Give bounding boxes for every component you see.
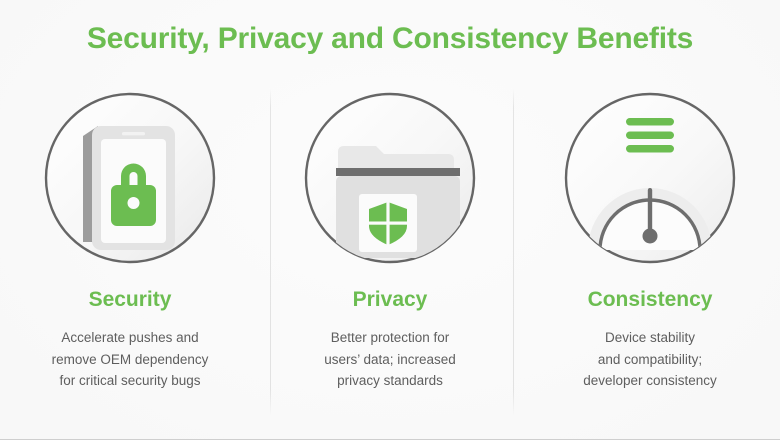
folder-shield-icon bbox=[302, 90, 478, 266]
slide-root: Security, Privacy and Consistency Benefi… bbox=[0, 0, 780, 440]
benefit-title-security: Security bbox=[89, 288, 172, 311]
benefit-column-privacy: Privacy Better protection for users’ dat… bbox=[260, 88, 520, 418]
benefit-description-security: Accelerate pushes and remove OEM depende… bbox=[52, 327, 209, 392]
benefit-title-consistency: Consistency bbox=[588, 288, 713, 311]
benefit-title-privacy: Privacy bbox=[353, 288, 428, 311]
benefit-column-security: Security Accelerate pushes and remove OE… bbox=[0, 88, 260, 418]
benefit-column-consistency: Consistency Device stability and compati… bbox=[520, 88, 780, 418]
phone-lock-icon bbox=[42, 90, 218, 266]
benefit-columns: Security Accelerate pushes and remove OE… bbox=[0, 88, 780, 418]
page-title: Security, Privacy and Consistency Benefi… bbox=[0, 22, 780, 56]
benefit-description-consistency: Device stability and compatibility; deve… bbox=[583, 327, 717, 392]
gauge-icon bbox=[562, 90, 738, 266]
benefit-description-privacy: Better protection for users’ data; incre… bbox=[324, 327, 456, 392]
